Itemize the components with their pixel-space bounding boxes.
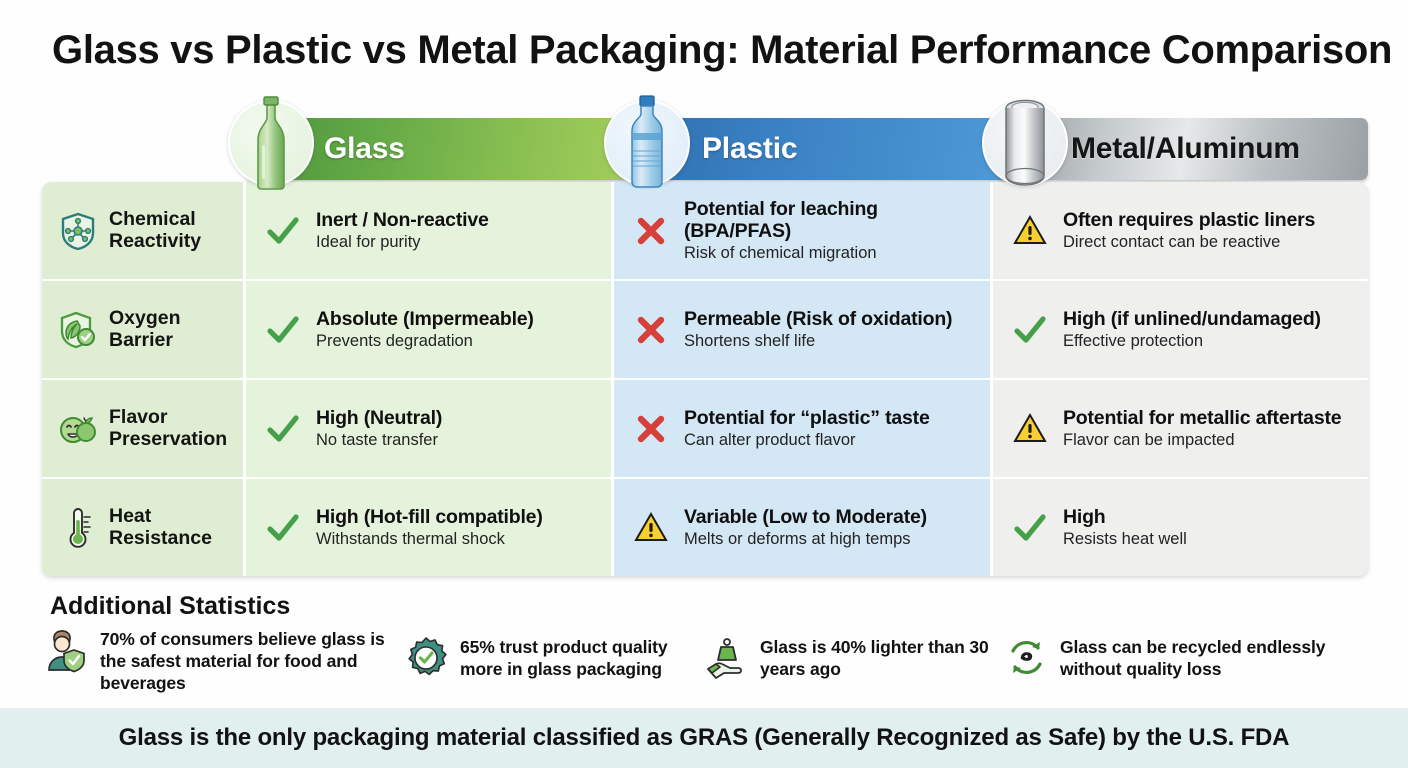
plastic-bottle-badge <box>604 100 690 186</box>
cell-glass: High (Neutral) No taste transfer <box>246 380 614 477</box>
glass-bottle-icon <box>245 95 297 191</box>
column-header-band: Glass Plastic Metal/Aluminum <box>246 118 1368 180</box>
list-item: Glass is 40% lighter than 30 years ago <box>704 628 1004 694</box>
value-main: Potential for leaching (BPA/PFAS) <box>684 198 990 242</box>
recycle-infinity-icon <box>1004 636 1050 682</box>
table-row: ChemicalReactivity Inert / Non-reactive … <box>42 182 1368 281</box>
value-sub: Ideal for purity <box>316 233 489 252</box>
value-block: Potential for “plastic” taste Can alter … <box>684 407 930 451</box>
cell-plastic: Variable (Low to Moderate) Melts or defo… <box>614 479 993 576</box>
taste-face-apple-icon <box>58 409 98 449</box>
row-label-cell: HeatResistance <box>42 479 246 576</box>
check-icon <box>1011 509 1049 547</box>
column-header-glass-label: Glass <box>324 132 405 166</box>
row-label-text: OxygenBarrier <box>109 308 181 352</box>
value-block: High (if unlined/undamaged) Effective pr… <box>1063 308 1321 352</box>
shield-molecule-icon <box>58 211 98 251</box>
value-block: Inert / Non-reactive Ideal for purity <box>316 209 489 253</box>
value-main: Potential for “plastic” taste <box>684 407 930 429</box>
value-sub: Melts or deforms at high temps <box>684 530 927 549</box>
cell-metal: Often requires plastic liners Direct con… <box>993 182 1365 279</box>
stat-text: 70% of consumers believe glass is the sa… <box>100 628 404 694</box>
row-label-cell: OxygenBarrier <box>42 281 246 378</box>
table-row: HeatResistance High (Hot-fill compatible… <box>42 479 1368 576</box>
value-block: High Resists heat well <box>1063 506 1187 550</box>
value-sub: No taste transfer <box>316 431 442 450</box>
badge-check-icon <box>404 636 450 682</box>
cell-glass: Inert / Non-reactive Ideal for purity <box>246 182 614 279</box>
list-item: 70% of consumers believe glass is the sa… <box>44 628 404 694</box>
cell-metal: High Resists heat well <box>993 479 1365 576</box>
stats-heading: Additional Statistics <box>50 592 290 621</box>
thermometer-icon <box>58 508 98 548</box>
value-sub: Effective protection <box>1063 332 1321 351</box>
footer-text: Glass is the only packaging material cla… <box>119 724 1290 752</box>
cell-plastic: Potential for leaching (BPA/PFAS) Risk o… <box>614 182 993 279</box>
value-main: Permeable (Risk of oxidation) <box>684 308 952 330</box>
value-sub: Withstands thermal shock <box>316 530 543 549</box>
check-icon <box>264 311 302 349</box>
row-label-text: ChemicalReactivity <box>109 209 201 253</box>
value-sub: Prevents degradation <box>316 332 534 351</box>
cross-icon <box>632 212 670 250</box>
value-main: High <box>1063 506 1187 528</box>
list-item: 65% trust product quality more in glass … <box>404 628 704 694</box>
value-block: Potential for metallic aftertaste Flavor… <box>1063 407 1341 451</box>
check-icon <box>264 509 302 547</box>
row-label-text: FlavorPreservation <box>109 407 227 451</box>
shield-leaf-check-icon <box>58 310 98 350</box>
row-label-cell: FlavorPreservation <box>42 380 246 477</box>
page-title: Glass vs Plastic vs Metal Packaging: Mat… <box>52 28 1392 73</box>
column-header-metal-label: Metal/Aluminum <box>1071 132 1300 166</box>
stat-text: Glass can be recycled endlessly without … <box>1060 636 1364 680</box>
value-block: Permeable (Risk of oxidation) Shortens s… <box>684 308 952 352</box>
cell-plastic: Potential for “plastic” taste Can alter … <box>614 380 993 477</box>
cell-metal: High (if unlined/undamaged) Effective pr… <box>993 281 1365 378</box>
value-main: High (if unlined/undamaged) <box>1063 308 1321 330</box>
value-sub: Flavor can be impacted <box>1063 431 1341 450</box>
value-block: Variable (Low to Moderate) Melts or defo… <box>684 506 927 550</box>
column-header-plastic-label: Plastic <box>702 132 797 166</box>
cross-icon <box>632 410 670 448</box>
warning-icon <box>632 509 670 547</box>
value-block: Often requires plastic liners Direct con… <box>1063 209 1315 253</box>
value-main: High (Hot-fill compatible) <box>316 506 543 528</box>
value-block: High (Neutral) No taste transfer <box>316 407 442 451</box>
hand-weight-icon <box>704 636 750 682</box>
table-row: FlavorPreservation High (Neutral) No tas… <box>42 380 1368 479</box>
value-sub: Direct contact can be reactive <box>1063 233 1315 252</box>
check-icon <box>264 212 302 250</box>
table-row: OxygenBarrier Absolute (Impermeable) Pre… <box>42 281 1368 380</box>
value-main: Absolute (Impermeable) <box>316 308 534 330</box>
value-main: Often requires plastic liners <box>1063 209 1315 231</box>
row-label-text: HeatResistance <box>109 506 212 550</box>
glass-bottle-badge <box>228 100 314 186</box>
value-sub: Resists heat well <box>1063 530 1187 549</box>
person-shield-icon <box>44 628 90 674</box>
warning-icon <box>1011 410 1049 448</box>
cell-glass: Absolute (Impermeable) Prevents degradat… <box>246 281 614 378</box>
value-main: Inert / Non-reactive <box>316 209 489 231</box>
value-main: Potential for metallic aftertaste <box>1063 407 1341 429</box>
footer-banner: Glass is the only packaging material cla… <box>0 708 1408 768</box>
stat-text: Glass is 40% lighter than 30 years ago <box>760 636 1004 680</box>
cell-plastic: Permeable (Risk of oxidation) Shortens s… <box>614 281 993 378</box>
plastic-bottle-icon <box>622 95 672 191</box>
cross-icon <box>632 311 670 349</box>
value-sub: Can alter product flavor <box>684 431 930 450</box>
aluminum-can-badge <box>982 100 1068 186</box>
infographic-page: Glass vs Plastic vs Metal Packaging: Mat… <box>0 0 1408 768</box>
stat-text: 65% trust product quality more in glass … <box>460 636 704 680</box>
aluminum-can-icon <box>999 97 1051 189</box>
row-label-cell: ChemicalReactivity <box>42 182 246 279</box>
value-block: Potential for leaching (BPA/PFAS) Risk o… <box>684 198 990 264</box>
warning-icon <box>1011 212 1049 250</box>
comparison-table: ChemicalReactivity Inert / Non-reactive … <box>42 182 1368 576</box>
value-block: Absolute (Impermeable) Prevents degradat… <box>316 308 534 352</box>
value-main: Variable (Low to Moderate) <box>684 506 927 528</box>
cell-metal: Potential for metallic aftertaste Flavor… <box>993 380 1365 477</box>
cell-glass: High (Hot-fill compatible) Withstands th… <box>246 479 614 576</box>
value-sub: Risk of chemical migration <box>684 244 990 263</box>
stats-list: 70% of consumers believe glass is the sa… <box>44 628 1374 694</box>
value-block: High (Hot-fill compatible) Withstands th… <box>316 506 543 550</box>
list-item: Glass can be recycled endlessly without … <box>1004 628 1364 694</box>
check-icon <box>1011 311 1049 349</box>
value-main: High (Neutral) <box>316 407 442 429</box>
value-sub: Shortens shelf life <box>684 332 952 351</box>
check-icon <box>264 410 302 448</box>
